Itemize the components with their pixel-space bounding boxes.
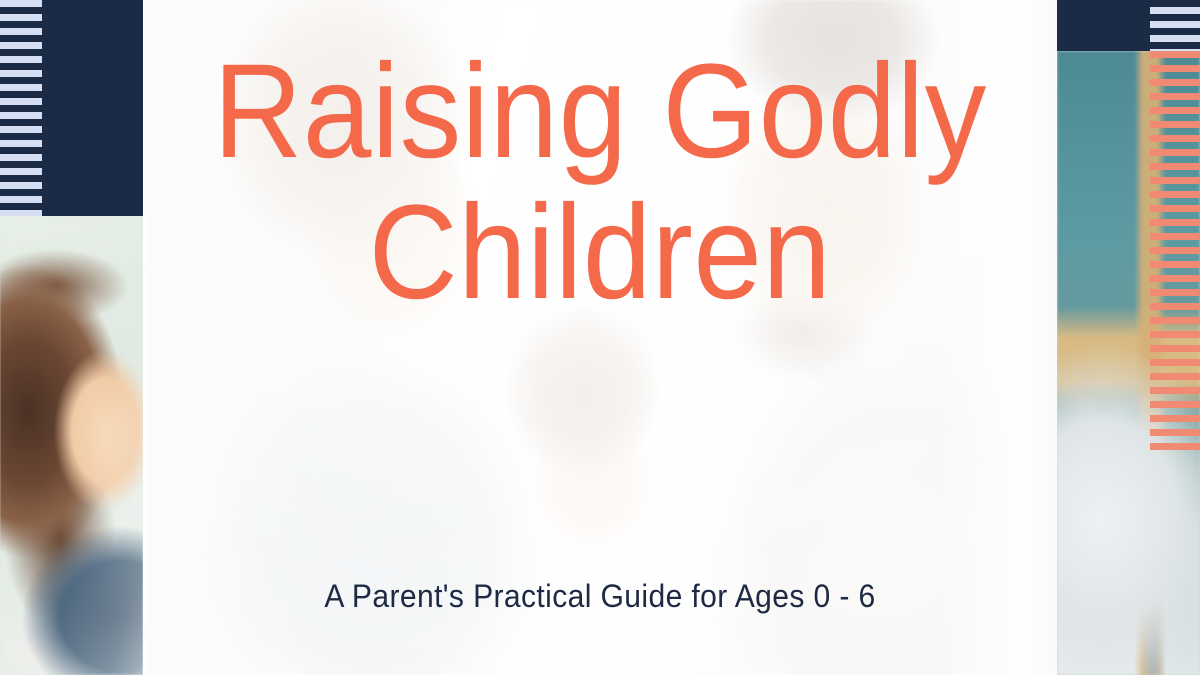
title-line-1: Raising Godly	[180, 46, 1021, 177]
right-coral-stripes	[1150, 51, 1200, 455]
right-panel	[1057, 0, 1200, 675]
left-panel	[0, 0, 143, 675]
left-girl-profile-photo	[0, 216, 143, 675]
left-photo-sheen	[0, 216, 143, 675]
slide-canvas: Raising Godly Children A Parent's Practi…	[0, 0, 1200, 675]
left-light-blue-stripes	[0, 0, 42, 216]
subtitle: A Parent's Practical Guide for Ages 0 - …	[170, 578, 1029, 615]
title-block: Raising Godly Children	[143, 46, 1057, 319]
right-light-blue-stripes	[1150, 0, 1200, 51]
title-line-2: Children	[180, 187, 1021, 318]
